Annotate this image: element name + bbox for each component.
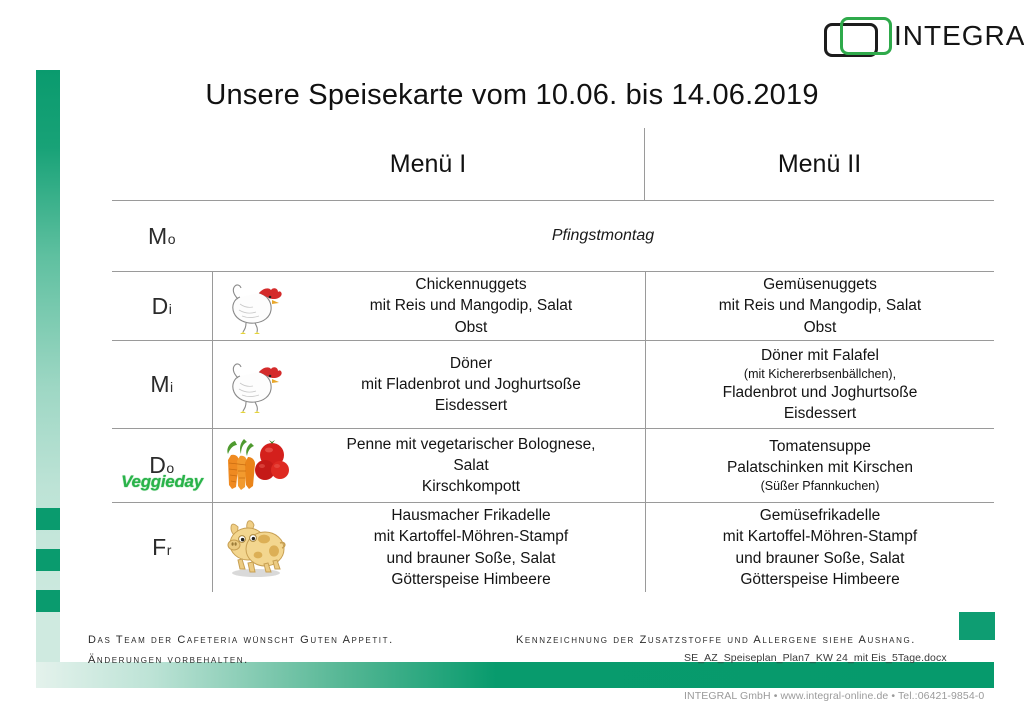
veggieday-badge: Veggieday: [121, 472, 203, 492]
dish-line: Obst: [804, 317, 837, 338]
dish-line: mit Reis und Mangodip, Salat: [370, 295, 572, 316]
table-row-tuesday: Di: [112, 271, 994, 340]
dish-line: Götterspeise Himbeere: [391, 569, 550, 590]
dish-line: Chickennuggets: [415, 274, 526, 295]
company-contact-line: INTEGRAL GmbH • www.integral-online.de •…: [684, 690, 984, 702]
table-row-thursday: Do Veggieday: [112, 428, 994, 502]
document-filename: SE_AZ_Speiseplan_Plan7_KW 24_mit Eis_5Ta…: [684, 652, 947, 664]
dish-line: mit Fladenbrot und Joghurtsoße: [361, 374, 581, 395]
menu-document: INTEGRAL Unsere Speisekarte vom 10.06. b…: [0, 0, 1024, 723]
dish-line: Palatschinken mit Kirschen: [727, 457, 913, 478]
menu1-cell-wednesday: Döner mit Fladenbrot und Joghurtsoße Eis…: [297, 341, 645, 428]
chicken-icon: [212, 341, 297, 428]
day-cell-friday: Fr: [112, 503, 212, 592]
pig-icon: [212, 503, 297, 592]
day-label-monday: Mo: [148, 225, 176, 248]
sidebar-green-block-3: [36, 590, 60, 612]
dish-line: Eisdessert: [784, 403, 856, 424]
day-cell-tuesday: Di: [112, 272, 212, 340]
table-row-wednesday: Mi: [112, 340, 994, 428]
dish-line: Hausmacher Frikadelle: [391, 505, 550, 526]
chicken-icon: [212, 272, 297, 340]
menu2-cell-thursday: Tomatensuppe Palatschinken mit Kirschen …: [645, 429, 994, 502]
day-cell-wednesday: Mi: [112, 341, 212, 428]
sidebar-green-block-2: [36, 549, 60, 571]
dish-line: mit Kartoffel-Möhren-Stampf: [723, 526, 917, 547]
dish-line: und brauner Soße, Salat: [387, 548, 556, 569]
dish-line: Gemüsefrikadelle: [760, 505, 881, 526]
integral-logo: INTEGRAL: [824, 10, 1020, 62]
menu2-cell-friday: Gemüsefrikadelle mit Kartoffel-Möhren-St…: [645, 503, 994, 592]
header-menu2-label: Menü II: [778, 150, 861, 179]
dish-line: Döner mit Falafel: [761, 345, 879, 366]
day-cell-monday: Mo: [112, 201, 212, 271]
header-day-cell: [112, 128, 212, 200]
dish-note-line: (Süßer Pfannkuchen): [761, 478, 880, 494]
logo-wordmark: INTEGRAL: [894, 20, 1024, 52]
dish-line: mit Kartoffel-Möhren-Stampf: [374, 526, 568, 547]
dish-line: und brauner Soße, Salat: [736, 548, 905, 569]
footer-greeting-line: Das Team der Cafeteria wünscht Guten App…: [88, 630, 508, 650]
logo-rounded-squares-icon: [824, 15, 890, 57]
dish-note-line: (mit Kichererbsenbällchen),: [744, 366, 896, 382]
vegetables-icon: [212, 429, 297, 502]
table-row-monday: Mo Pfingstmontag: [112, 200, 994, 271]
day-cell-thursday: Do Veggieday: [112, 429, 212, 502]
menu2-cell-tuesday: Gemüsenuggets mit Reis und Mangodip, Sal…: [645, 272, 994, 340]
dish-line: Penne mit vegetarischer Bolognese,: [346, 434, 595, 455]
dish-line: Eisdessert: [435, 395, 507, 416]
footer-allergen-line: Kennzeichnung der Zusatzstoffe und Aller…: [516, 630, 946, 650]
holiday-label: Pfingstmontag: [552, 227, 654, 245]
dish-line: Fladenbrot und Joghurtsoße: [723, 382, 918, 403]
menu1-cell-friday: Hausmacher Frikadelle mit Kartoffel-Möhr…: [297, 503, 645, 592]
dish-line: Kirschkompott: [422, 476, 520, 497]
dish-line: Tomatensuppe: [769, 436, 871, 457]
page-title: Unsere Speisekarte vom 10.06. bis 14.06.…: [0, 79, 1024, 112]
menu1-cell-tuesday: Chickennuggets mit Reis und Mangodip, Sa…: [297, 272, 645, 340]
day-label-friday: Fr: [152, 536, 172, 559]
table-header-row: Menü I Menü II: [112, 128, 994, 200]
day-label-wednesday: Mi: [150, 373, 173, 396]
dish-line: Obst: [455, 317, 488, 338]
sidebar-green-block-1: [36, 508, 60, 530]
header-menu2-cell: Menü II: [644, 128, 994, 200]
dish-line: Döner: [450, 353, 492, 374]
menu2-cell-wednesday: Döner mit Falafel (mit Kichererbsenbällc…: [645, 341, 994, 428]
footer-right-text: Kennzeichnung der Zusatzstoffe und Aller…: [516, 630, 946, 650]
header-menu1-label: Menü I: [390, 150, 466, 179]
table-row-friday: Fr: [112, 502, 994, 592]
footer-disclaimer-line: Änderungen vorbehalten.: [88, 650, 508, 670]
footer-left-text: Das Team der Cafeteria wünscht Guten App…: [88, 630, 508, 671]
sidebar-green-gradient-bar: [36, 70, 60, 619]
dish-line: Götterspeise Himbeere: [740, 569, 899, 590]
header-menu1-cell: Menü I: [212, 128, 644, 200]
dish-line: Gemüsenuggets: [763, 274, 877, 295]
menu-table: Menü I Menü II Mo Pfingstmontag Di: [112, 128, 994, 592]
menu1-cell-thursday: Penne mit vegetarischer Bolognese, Salat…: [297, 429, 645, 502]
holiday-cell-monday: Pfingstmontag: [212, 201, 994, 271]
dish-line: mit Reis und Mangodip, Salat: [719, 295, 921, 316]
footer-green-square: [959, 612, 995, 640]
dish-line: Salat: [453, 455, 488, 476]
day-label-tuesday: Di: [152, 295, 173, 318]
